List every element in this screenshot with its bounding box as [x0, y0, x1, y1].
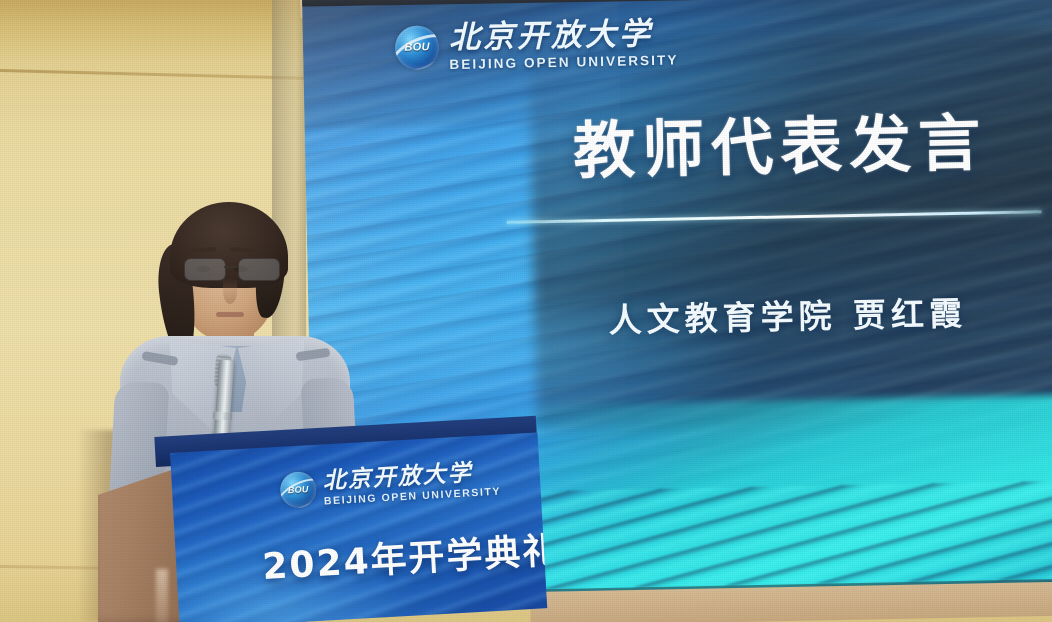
speaker-mouth [216, 312, 244, 317]
photo-stage: BOU 北京开放大学 BEIJING OPEN UNIVERSITY 教师代表发… [0, 0, 1052, 622]
bou-globe-icon: BOU [395, 26, 440, 71]
bou-emblem-label: BOU [280, 484, 317, 496]
glasses-lens-right [238, 258, 280, 281]
eyeglasses-icon [182, 258, 282, 280]
speaker-nose [223, 278, 237, 304]
podium: BOU 北京开放大学 BEIJING OPEN UNIVERSITY 2024年… [98, 437, 536, 622]
slide-subtitle: 人文教育学院 贾红霞 [608, 287, 967, 342]
slide-title: 教师代表发言 [572, 92, 988, 190]
slide-logo-text: 北京开放大学 BEIJING OPEN UNIVERSITY [449, 18, 679, 71]
glasses-lens-left [184, 258, 226, 281]
slide-logo-name-cn: 北京开放大学 [449, 18, 679, 54]
bou-globe-icon: BOU [279, 471, 317, 509]
glasses-bridge [224, 266, 238, 268]
bou-emblem-label: BOU [395, 41, 439, 54]
podium-front-panel: BOU 北京开放大学 BEIJING OPEN UNIVERSITY 2024年… [170, 432, 547, 622]
slide-logo: BOU 北京开放大学 BEIJING OPEN UNIVERSITY [395, 18, 679, 72]
podium-side-highlight [156, 569, 168, 622]
microphone-band [213, 411, 233, 420]
